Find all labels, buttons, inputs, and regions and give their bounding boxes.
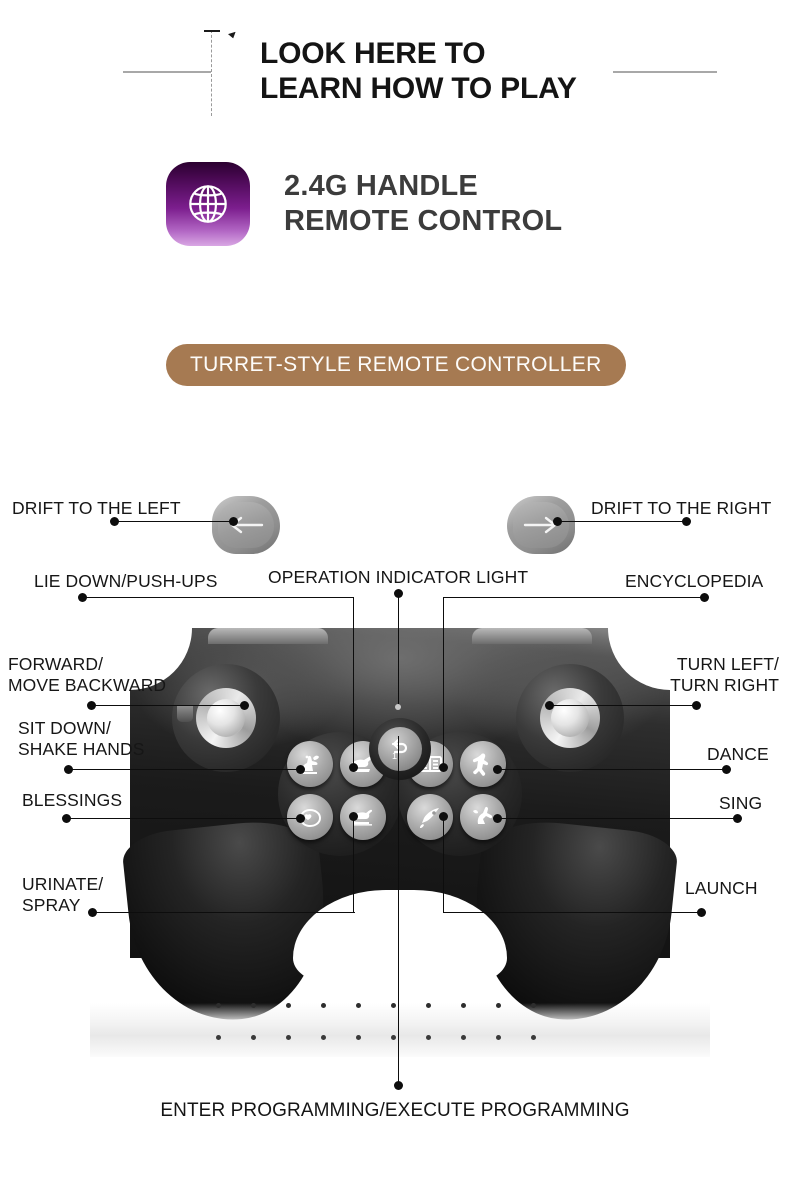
header-arrow-tick-icon (227, 30, 235, 38)
right-stick-ring (540, 688, 600, 748)
programming-button[interactable]: 1 (369, 718, 431, 780)
callout-label-encyclopedia: ENCYCLOPEDIA (625, 571, 763, 592)
callout-dot-dance-target (493, 765, 502, 774)
callout-label-drift-right: DRIFT TO THE RIGHT (591, 498, 771, 519)
drift-right-face (513, 502, 569, 548)
callout-label-programming: ENTER PROGRAMMING/EXECUTE PROGRAMMING (0, 1100, 790, 1122)
grip-left (120, 815, 335, 1029)
programming-button-face: 1 (378, 727, 422, 771)
dog-sit-shake-icon (295, 749, 325, 779)
callout-dot-programming (394, 1081, 403, 1090)
callout-dot-sing-target (493, 814, 502, 823)
callout-dot-forward-target (240, 701, 249, 710)
gamepad-illustration: 1 (130, 620, 670, 1020)
callout-line-launch-h (443, 912, 701, 913)
callout-label-forward: FORWARD/ MOVE BACKWARD (8, 654, 166, 696)
header-corner-mark-icon (204, 30, 220, 40)
callout-line-blessings (66, 818, 302, 819)
callout-dot-urinate-target (349, 812, 358, 821)
page-title-line1: LOOK HERE TO (260, 36, 730, 71)
callout-label-urinate-line1: URINATE/ (22, 874, 103, 895)
header-dashed-guide (211, 30, 212, 116)
left-cluster-top-left-button[interactable] (287, 741, 333, 787)
page-title-line2: LEARN HOW TO PLAY (260, 71, 730, 106)
callout-line-indicator (398, 594, 399, 704)
callout-dot-launch-target (439, 812, 448, 821)
callout-dot-turn-target (545, 701, 554, 710)
reflection-dot-row-bottom (216, 1035, 536, 1040)
left-stick-ring (196, 688, 256, 748)
left-cluster-bottom-left-button[interactable] (287, 794, 333, 840)
callout-label-blessings: BLESSINGS (22, 790, 122, 811)
globe-icon (166, 162, 250, 246)
callout-line-lie-down-v (353, 597, 354, 765)
callout-dot-sit-down-target (296, 765, 305, 774)
right-cluster-top-right-button[interactable] (460, 741, 506, 787)
page-title: LOOK HERE TO LEARN HOW TO PLAY (260, 36, 730, 106)
callout-line-turn (549, 705, 696, 706)
callout-label-sit-down-line1: SIT DOWN/ (18, 718, 145, 739)
callout-label-turn-line2: TURN RIGHT (593, 675, 779, 696)
header-rule-left (123, 71, 211, 73)
left-stick-stem (177, 706, 193, 722)
left-cluster-bottom-right-button[interactable] (340, 794, 386, 840)
drift-left-face (218, 502, 274, 548)
callout-line-forward (91, 705, 247, 706)
callout-line-sit-down (68, 769, 302, 770)
callout-label-drift-left: DRIFT TO THE LEFT (12, 498, 181, 519)
drift-right-button[interactable] (507, 496, 575, 554)
indicator-led-icon (395, 704, 401, 710)
callout-label-launch: LAUNCH (685, 878, 758, 899)
floor-reflection (90, 1003, 710, 1057)
callout-label-lie-down: LIE DOWN/PUSH-UPS (34, 571, 218, 592)
programming-record-icon: 1 (386, 735, 414, 763)
callout-label-forward-line1: FORWARD/ (8, 654, 166, 675)
reflection-dot-row-top (216, 1003, 536, 1008)
shoulder-left (208, 628, 328, 644)
status-badge: TURRET-STYLE REMOTE CONTROLLER (166, 344, 626, 386)
callout-label-sit-down: SIT DOWN/ SHAKE HANDS (18, 718, 145, 760)
shoulder-right (472, 628, 592, 644)
callout-label-turn: TURN LEFT/ TURN RIGHT (593, 654, 779, 696)
callout-dot-encyclopedia-target (439, 763, 448, 772)
callout-line-drift-right (557, 521, 686, 522)
callout-dot-drift-left-end (229, 517, 238, 526)
callout-dot-blessings-target (296, 814, 305, 823)
callout-dot-drift-right (682, 517, 691, 526)
callout-label-forward-line2: MOVE BACKWARD (8, 675, 166, 696)
callout-line-sing (497, 818, 737, 819)
brand-line1: 2.4G HANDLE (284, 169, 562, 204)
callout-line-lie-down-h (82, 597, 354, 598)
dog-dance-icon (468, 749, 498, 779)
svg-text:1: 1 (392, 751, 397, 761)
callout-line-dance (497, 769, 726, 770)
callout-line-encyclopedia-h (443, 597, 704, 598)
brand-line2: REMOTE CONTROL (284, 204, 562, 239)
callout-line-encyclopedia-v (443, 597, 444, 765)
callout-line-drift-left (115, 521, 233, 522)
drift-left-button[interactable] (212, 496, 280, 554)
callout-line-urinate-h (92, 912, 355, 913)
page-root: LOOK HERE TO LEARN HOW TO PLAY 2.4G HAND… (0, 0, 790, 1181)
callout-label-turn-line1: TURN LEFT/ (593, 654, 779, 675)
brand-text: 2.4G HANDLE REMOTE CONTROL (284, 169, 562, 239)
callout-label-indicator: OPERATION INDICATOR LIGHT (268, 567, 528, 588)
brand-block: 2.4G HANDLE REMOTE CONTROL (166, 162, 562, 246)
callout-line-urinate-v (353, 816, 354, 913)
callout-label-dance: DANCE (707, 744, 769, 765)
callout-label-sing: SING (719, 793, 762, 814)
grip-right (464, 815, 679, 1029)
callout-line-programming (398, 736, 399, 1085)
callout-dot-drift-right-start (553, 517, 562, 526)
callout-dot-drift-left (110, 517, 119, 526)
callout-dot-lie-down-target (349, 763, 358, 772)
callout-label-sit-down-line2: SHAKE HANDS (18, 739, 145, 760)
callout-line-launch-v (443, 816, 444, 913)
